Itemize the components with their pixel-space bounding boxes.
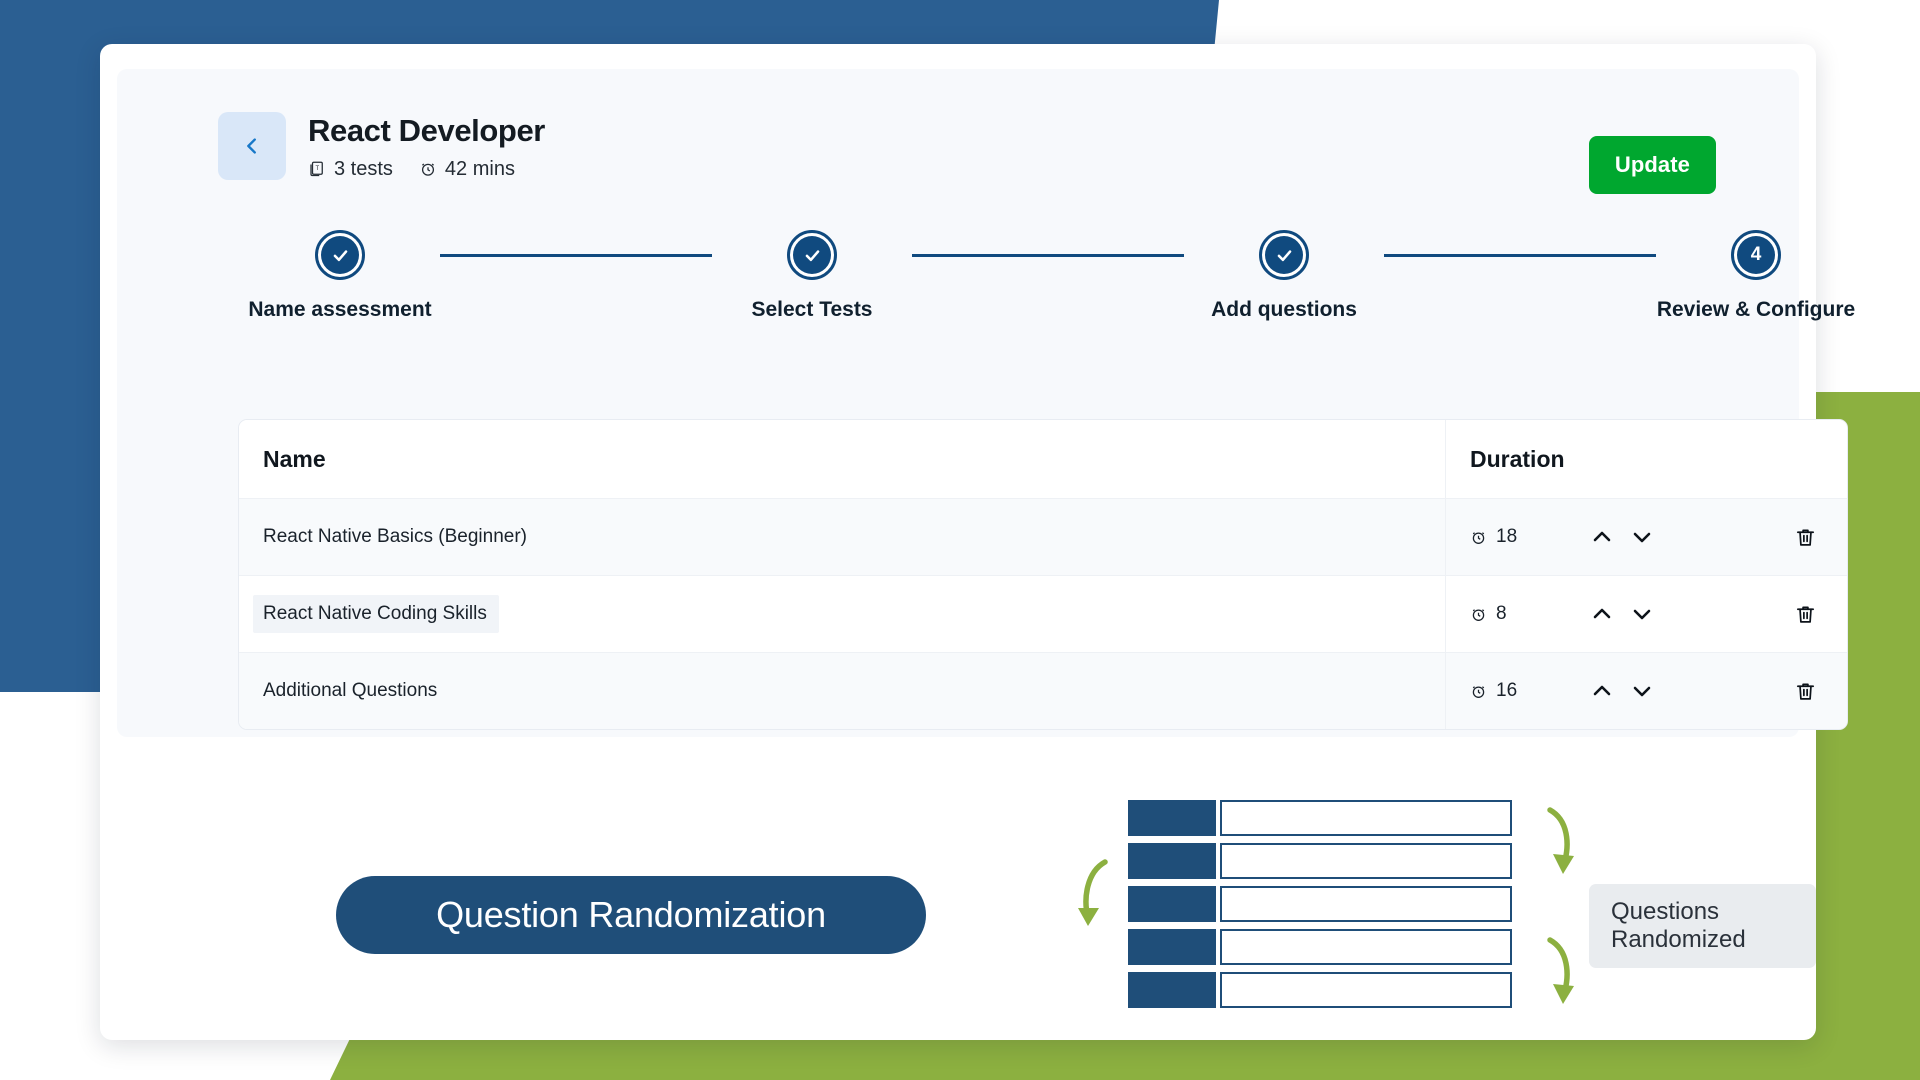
delete-row-button[interactable] xyxy=(1794,680,1817,703)
progress-stepper: Name assessment Select Tests xyxy=(240,230,1856,322)
move-up-button[interactable] xyxy=(1590,602,1614,626)
test-name: Additional Questions xyxy=(263,680,437,702)
step-label: Select Tests xyxy=(751,298,872,322)
row-reorder-controls xyxy=(1590,679,1740,703)
clock-icon xyxy=(1470,683,1487,700)
delete-row-button[interactable] xyxy=(1794,526,1817,549)
move-down-button[interactable] xyxy=(1630,525,1654,549)
duration-value-group: 18 xyxy=(1470,526,1590,548)
list-item-field xyxy=(1220,843,1512,879)
stepper-connector xyxy=(1384,254,1656,257)
trash-icon xyxy=(1794,680,1817,703)
clock-icon xyxy=(1470,529,1487,546)
list-item-field xyxy=(1220,800,1512,836)
table-header-row: Name Duration xyxy=(239,420,1847,498)
stepper-step-review-configure[interactable]: 4 Review & Configure xyxy=(1656,230,1856,322)
tests-count-label: 3 tests xyxy=(334,158,393,181)
step-label: Add questions xyxy=(1211,298,1357,322)
header-meta: T 3 tests 42 mins xyxy=(308,158,545,181)
list-item xyxy=(1128,929,1512,965)
row-name-cell: React Native Coding Skills xyxy=(239,576,1445,652)
page-title: React Developer xyxy=(308,114,545,149)
tests-table: Name Duration React Native Basics (Begin… xyxy=(238,419,1848,730)
chevron-down-icon xyxy=(1630,602,1654,626)
step-label: Name assessment xyxy=(248,298,431,322)
step-label: Review & Configure xyxy=(1657,298,1855,322)
questions-randomized-tag: Questions Randomized xyxy=(1589,884,1816,968)
header-text-group: React Developer T 3 tests xyxy=(308,112,545,181)
trash-icon xyxy=(1794,603,1817,626)
svg-text:T: T xyxy=(316,166,320,172)
row-name-cell: Additional Questions xyxy=(239,653,1445,729)
list-item-field xyxy=(1220,972,1512,1008)
tests-count: T 3 tests xyxy=(308,158,393,181)
back-button[interactable] xyxy=(218,112,286,180)
table-row[interactable]: Additional Questions 16 xyxy=(239,652,1847,729)
list-item-marker xyxy=(1128,843,1216,879)
trash-icon xyxy=(1794,526,1817,549)
chevron-down-icon xyxy=(1630,525,1654,549)
delete-row-button[interactable] xyxy=(1794,603,1817,626)
list-item xyxy=(1128,800,1512,836)
list-item-marker xyxy=(1128,800,1216,836)
duration-value: 8 xyxy=(1496,603,1507,625)
test-name: React Native Coding Skills xyxy=(253,595,499,633)
list-item-marker xyxy=(1128,972,1216,1008)
list-item-field xyxy=(1220,886,1512,922)
column-header-duration: Duration xyxy=(1445,420,1848,498)
duration-value: 16 xyxy=(1496,680,1517,702)
duration-value-group: 8 xyxy=(1470,603,1590,625)
update-button[interactable]: Update xyxy=(1589,136,1716,194)
check-icon xyxy=(803,246,822,265)
row-reorder-controls xyxy=(1590,602,1740,626)
step-marker xyxy=(1265,236,1303,274)
move-up-button[interactable] xyxy=(1590,525,1614,549)
stepper-step-name-assessment[interactable]: Name assessment xyxy=(240,230,440,322)
duration-total: 42 mins xyxy=(419,158,515,181)
stepper-step-select-tests[interactable]: Select Tests xyxy=(712,230,912,322)
move-down-button[interactable] xyxy=(1630,602,1654,626)
screen-root: React Developer T 3 tests xyxy=(0,0,1920,1080)
list-item-field xyxy=(1220,929,1512,965)
test-name: React Native Basics (Beginner) xyxy=(263,526,527,548)
duration-value: 18 xyxy=(1496,526,1517,548)
check-icon xyxy=(331,246,350,265)
chevron-up-icon xyxy=(1590,602,1614,626)
check-icon xyxy=(1275,246,1294,265)
chevron-down-icon xyxy=(1630,679,1654,703)
move-down-button[interactable] xyxy=(1630,679,1654,703)
list-item-marker xyxy=(1128,929,1216,965)
row-name-cell: React Native Basics (Beginner) xyxy=(239,499,1445,575)
arrow-out-bottom-icon xyxy=(1540,934,1582,1012)
clock-icon xyxy=(1470,606,1487,623)
arrow-out-top-icon xyxy=(1540,804,1582,882)
step-marker xyxy=(793,236,831,274)
step-circle[interactable] xyxy=(315,230,365,280)
list-item xyxy=(1128,972,1512,1008)
chevron-up-icon xyxy=(1590,679,1614,703)
tests-icon: T xyxy=(308,160,326,178)
step-marker xyxy=(321,236,359,274)
chevron-up-icon xyxy=(1590,525,1614,549)
duration-total-label: 42 mins xyxy=(445,158,515,181)
column-header-name: Name xyxy=(239,420,1445,498)
clock-icon xyxy=(419,160,437,178)
row-duration-cell: 8 xyxy=(1445,576,1848,652)
step-circle[interactable] xyxy=(787,230,837,280)
move-up-button[interactable] xyxy=(1590,679,1614,703)
chevron-left-icon xyxy=(241,135,263,157)
table-row[interactable]: React Native Basics (Beginner) 18 xyxy=(239,498,1847,575)
question-randomization-pill: Question Randomization xyxy=(336,876,926,954)
assessment-card: React Developer T 3 tests xyxy=(100,44,1816,1040)
stepper-connector xyxy=(912,254,1184,257)
stepper-connector xyxy=(440,254,712,257)
assessment-header: React Developer T 3 tests xyxy=(218,112,545,181)
list-item-marker xyxy=(1128,886,1216,922)
table-row[interactable]: React Native Coding Skills 8 xyxy=(239,575,1847,652)
list-item xyxy=(1128,886,1512,922)
question-list-illustration xyxy=(1128,800,1512,1015)
row-duration-cell: 16 xyxy=(1445,653,1848,729)
step-circle[interactable]: 4 xyxy=(1731,230,1781,280)
step-marker: 4 xyxy=(1737,236,1775,274)
row-reorder-controls xyxy=(1590,525,1740,549)
list-item xyxy=(1128,843,1512,879)
step-circle[interactable] xyxy=(1259,230,1309,280)
duration-value-group: 16 xyxy=(1470,680,1590,702)
row-duration-cell: 18 xyxy=(1445,499,1848,575)
stepper-step-add-questions[interactable]: Add questions xyxy=(1184,230,1384,322)
arrow-into-list-icon xyxy=(1075,856,1117,936)
